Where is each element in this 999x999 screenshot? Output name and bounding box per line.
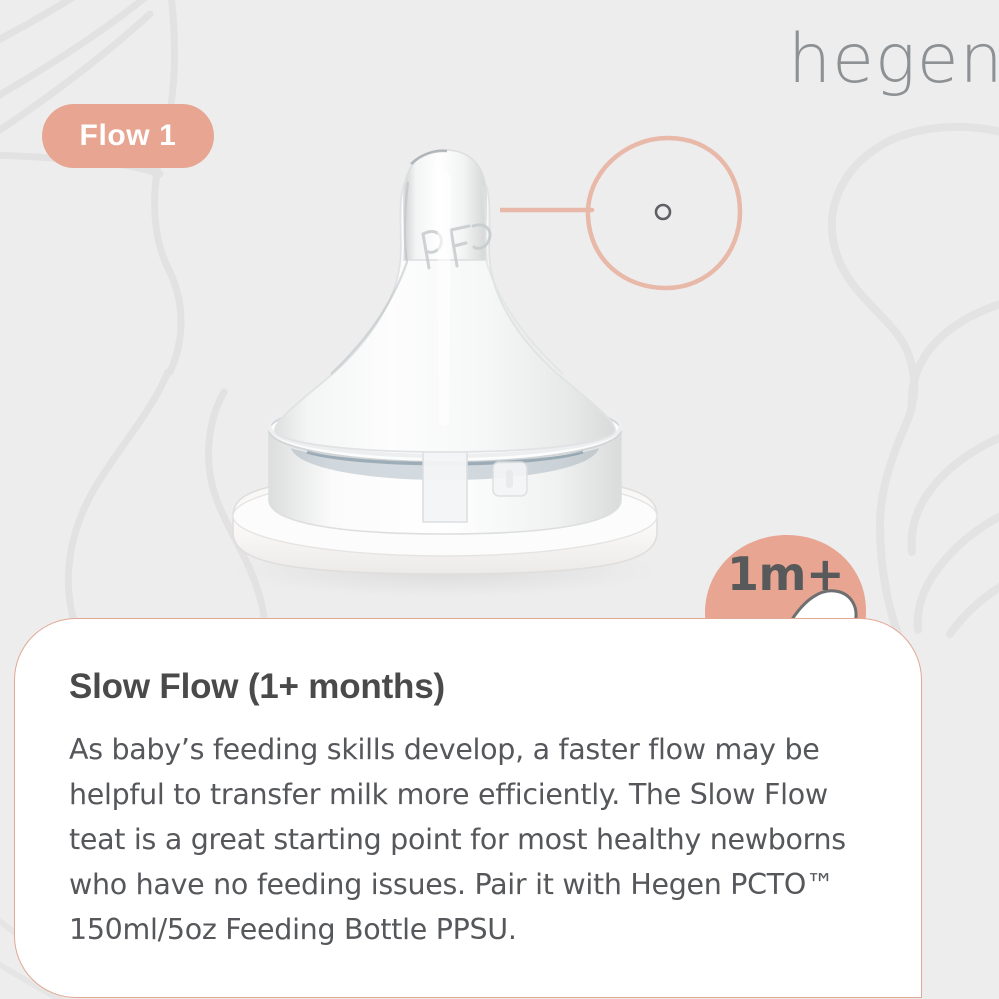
age-label: 1m+: [703, 547, 868, 601]
brand-logo: hegen: [788, 26, 999, 94]
product-info-graphic: hegen Flow 1: [0, 0, 999, 999]
card-title: Slow Flow (1+ months): [69, 667, 445, 707]
product-image-silicone-teat: [195, 130, 705, 600]
info-card: Slow Flow (1+ months) As baby’s feeding …: [14, 618, 922, 998]
card-description: As baby’s feeding skills develop, a fast…: [69, 727, 881, 952]
flow-level-label: Flow 1: [80, 119, 177, 153]
flow-level-badge: Flow 1: [42, 104, 214, 168]
